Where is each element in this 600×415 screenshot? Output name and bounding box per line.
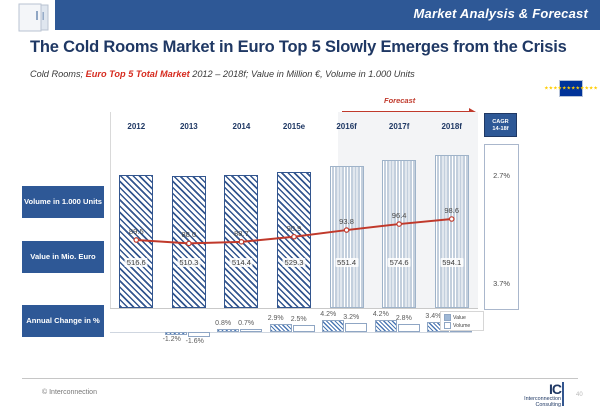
footer-divider (22, 378, 578, 379)
annual-change-label-vol-2013: -1.6% (186, 338, 204, 345)
volume-point-label-2017f: 96.4 (392, 211, 407, 220)
annual-change-label-val-2015e: 2.9% (268, 315, 284, 322)
annual-change-group-2015e: 2.9%2.5% (268, 310, 321, 356)
annual-change-group-2014: 0.8%0.7% (215, 310, 268, 356)
annual-change-bar-vol-2014 (240, 329, 262, 332)
cagr-value-value: 3.7% (485, 279, 518, 288)
legend-swatch-value-icon (444, 314, 451, 321)
volume-point-2014 (239, 240, 243, 244)
legend-item-volume: Volume (444, 322, 480, 329)
annual-change-bar-vol-2015e (293, 325, 315, 332)
legend-swatch-volume-icon (444, 322, 451, 329)
annual-change-label-vol-2017f: 2.8% (396, 315, 412, 322)
legend-box-volume: Volume in 1.000 Units (22, 186, 104, 218)
subtitle-highlight: Euro Top 5 Total Market (86, 69, 190, 79)
chart-x-axis (110, 308, 478, 309)
annual-change-label-val-2016f: 4.2% (320, 311, 336, 318)
volume-point-2017f (397, 222, 401, 226)
logo-line2: Consulting (505, 402, 561, 408)
annual-change-label-val-2018f: 3.4% (425, 313, 441, 320)
volume-point-2012 (134, 238, 138, 242)
annual-change-group-2016f: 4.2%3.2% (320, 310, 373, 356)
annual-change-bar-val-2014 (217, 329, 239, 332)
annual-change-bar-val-2013 (165, 332, 187, 335)
annual-change-bar-val-2016f (322, 320, 344, 332)
volume-point-label-2018f: 98.6 (444, 206, 459, 215)
copyright-text: © Interconnection (42, 389, 97, 396)
chart-legend: Value Volume (440, 311, 484, 331)
annual-change-label-vol-2016f: 3.2% (343, 314, 359, 321)
legend-box-annual-change: Annual Change in % (22, 305, 104, 337)
annual-change-label-vol-2015e: 2.5% (291, 316, 307, 323)
volume-point-2016f (344, 228, 348, 232)
logo-bar (562, 382, 564, 406)
volume-point-2015e (292, 235, 296, 239)
annual-change-bar-val-2017f (375, 320, 397, 332)
cagr-volume-value: 2.7% (485, 171, 518, 180)
page-subtitle: Cold Rooms; Euro Top 5 Total Market 2012… (30, 69, 550, 79)
logo-mark: IC (505, 382, 561, 396)
volume-point-label-2012: 89.5 (129, 227, 144, 236)
annual-change-label-val-2014: 0.8% (215, 320, 231, 327)
subtitle-suffix: 2012 – 2018f; Value in Million €, Volume… (192, 69, 415, 79)
cagr-header: CAGR 14-18f (484, 113, 517, 137)
slide: Market Analysis & Forecast The Cold Room… (0, 0, 600, 415)
volume-line-svg (110, 112, 478, 308)
legend-item-value: Value (444, 314, 480, 321)
volume-point-2018f (450, 217, 454, 221)
interconnection-logo: IC Interconnection Consulting (505, 382, 561, 408)
volume-point-label-2013: 88.0 (181, 230, 196, 239)
annual-change-bar-val-2015e (270, 324, 292, 332)
cagr-values-box: 2.7% 3.7% (484, 144, 519, 310)
annual-change-group-2017f: 4.2%2.8% (373, 310, 426, 356)
annual-change-label-val-2017f: 4.2% (373, 311, 389, 318)
volume-point-2013 (187, 241, 191, 245)
annual-change-bar-vol-2016f (345, 323, 367, 332)
legend-box-value: Value in Mio. Euro (22, 241, 104, 273)
page-number: 40 (576, 392, 583, 398)
forecast-label: Forecast (384, 96, 415, 105)
page-title: The Cold Rooms Market in Euro Top 5 Slow… (30, 38, 590, 57)
volume-point-label-2016f: 93.8 (339, 217, 354, 226)
annual-change-chart: -1.2%-1.6%0.8%0.7%2.9%2.5%4.2%3.2%4.2%2.… (110, 310, 478, 356)
legend-label-value: Value (453, 315, 466, 321)
volume-point-label-2014: 88.7 (234, 229, 249, 238)
subtitle-prefix: Cold Rooms; (30, 69, 83, 79)
annual-change-bar-vol-2017f (398, 324, 420, 332)
volume-point-label-2015e: 90.9 (287, 224, 302, 233)
cagr-header-line1: CAGR (485, 119, 516, 126)
annual-change-bar-vol-2013 (188, 332, 210, 337)
cold-room-cabinet-icon (16, 2, 52, 34)
annual-change-label-val-2013: -1.2% (163, 336, 181, 343)
eu-flag-stars: ★★★★★★★★★★★★ (544, 86, 598, 91)
annual-change-label-vol-2014: 0.7% (238, 320, 254, 327)
legend-label-volume: Volume (453, 323, 470, 329)
eu-flag-icon: ★★★★★★★★★★★★ (559, 80, 583, 97)
volume-line-series: 89.588.088.790.993.896.498.6 (110, 112, 478, 308)
cagr-header-line2: 14-18f (485, 126, 516, 133)
annual-change-group-2013: -1.2%-1.6% (163, 310, 216, 356)
header-title: Market Analysis & Forecast (413, 6, 588, 21)
